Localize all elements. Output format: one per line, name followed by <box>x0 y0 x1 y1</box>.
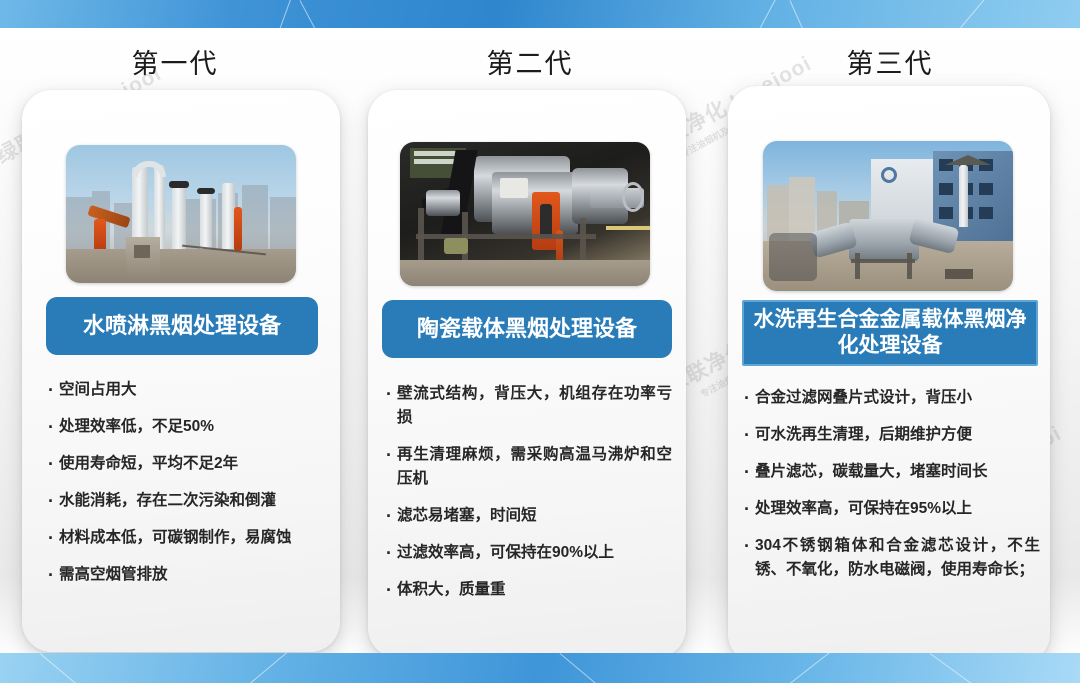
top-decorative-bar <box>0 0 1080 28</box>
list-item: 材料成本低，可碳钢制作，易腐蚀 <box>48 526 320 550</box>
third-generation-equipment-photo <box>763 141 1013 291</box>
list-item: 滤芯易堵塞，时间短 <box>386 504 672 528</box>
card-generation-3[interactable]: 水洗再生合金金属载体黑烟净化处理设备 合金过滤网叠片式设计，背压小 可水洗再生清… <box>728 86 1050 664</box>
list-item: 壁流式结构，背压大，机组存在功率亏损 <box>386 382 672 430</box>
list-item: 再生清理麻烦，需采购高温马沸炉和空压机 <box>386 443 672 491</box>
first-generation-equipment-photo <box>66 145 296 283</box>
slide-body: 绿联净化 L-eeiooi 专注油烟机及工业废气净化 绿联净化 L-eeiooi… <box>0 28 1080 653</box>
list-item: 使用寿命短，平均不足2年 <box>48 452 320 476</box>
heading-generation-2: 第二代 <box>400 42 660 81</box>
list-item: 体积大，质量重 <box>386 578 672 602</box>
banner-generation-3: 水洗再生合金金属载体黑烟净化处理设备 <box>742 300 1038 366</box>
column-headings: 第一代 第二代 第三代 <box>0 28 1080 90</box>
list-item: 处理效率低，不足50% <box>48 415 320 439</box>
list-item: 过滤效率高，可保持在90%以上 <box>386 541 672 565</box>
second-generation-equipment-photo <box>400 142 650 286</box>
list-item: 合金过滤网叠片式设计，背压小 <box>744 386 1040 410</box>
card-generation-1[interactable]: 水喷淋黑烟处理设备 空间占用大 处理效率低，不足50% 使用寿命短，平均不足2年… <box>22 90 340 652</box>
list-item: 处理效率高，可保持在95%以上 <box>744 497 1040 521</box>
banner-generation-2: 陶瓷载体黑烟处理设备 <box>382 300 672 358</box>
list-item: 叠片滤芯，碳载量大，堵塞时间长 <box>744 460 1040 484</box>
bullet-list-generation-2: 壁流式结构，背压大，机组存在功率亏损 再生清理麻烦，需采购高温马沸炉和空压机 滤… <box>386 382 672 615</box>
list-item: 需高空烟管排放 <box>48 563 320 587</box>
banner-generation-1: 水喷淋黑烟处理设备 <box>46 297 318 355</box>
card-generation-2[interactable]: 陶瓷载体黑烟处理设备 壁流式结构，背压大，机组存在功率亏损 再生清理麻烦，需采购… <box>368 90 686 658</box>
bottom-decorative-bar <box>0 653 1080 683</box>
bullet-list-generation-1: 空间占用大 处理效率低，不足50% 使用寿命短，平均不足2年 水能消耗，存在二次… <box>48 378 320 600</box>
list-item: 可水洗再生清理，后期维护方便 <box>744 423 1040 447</box>
heading-generation-3: 第三代 <box>760 42 1020 81</box>
list-item: 水能消耗，存在二次污染和倒灌 <box>48 489 320 513</box>
list-item: 304不锈钢箱体和合金滤芯设计，不生锈、不氧化，防水电磁阀，使用寿命长； <box>744 534 1040 582</box>
list-item: 空间占用大 <box>48 378 320 402</box>
bullet-list-generation-3: 合金过滤网叠片式设计，背压小 可水洗再生清理，后期维护方便 叠片滤芯，碳载量大，… <box>744 386 1040 595</box>
heading-generation-1: 第一代 <box>45 42 305 81</box>
